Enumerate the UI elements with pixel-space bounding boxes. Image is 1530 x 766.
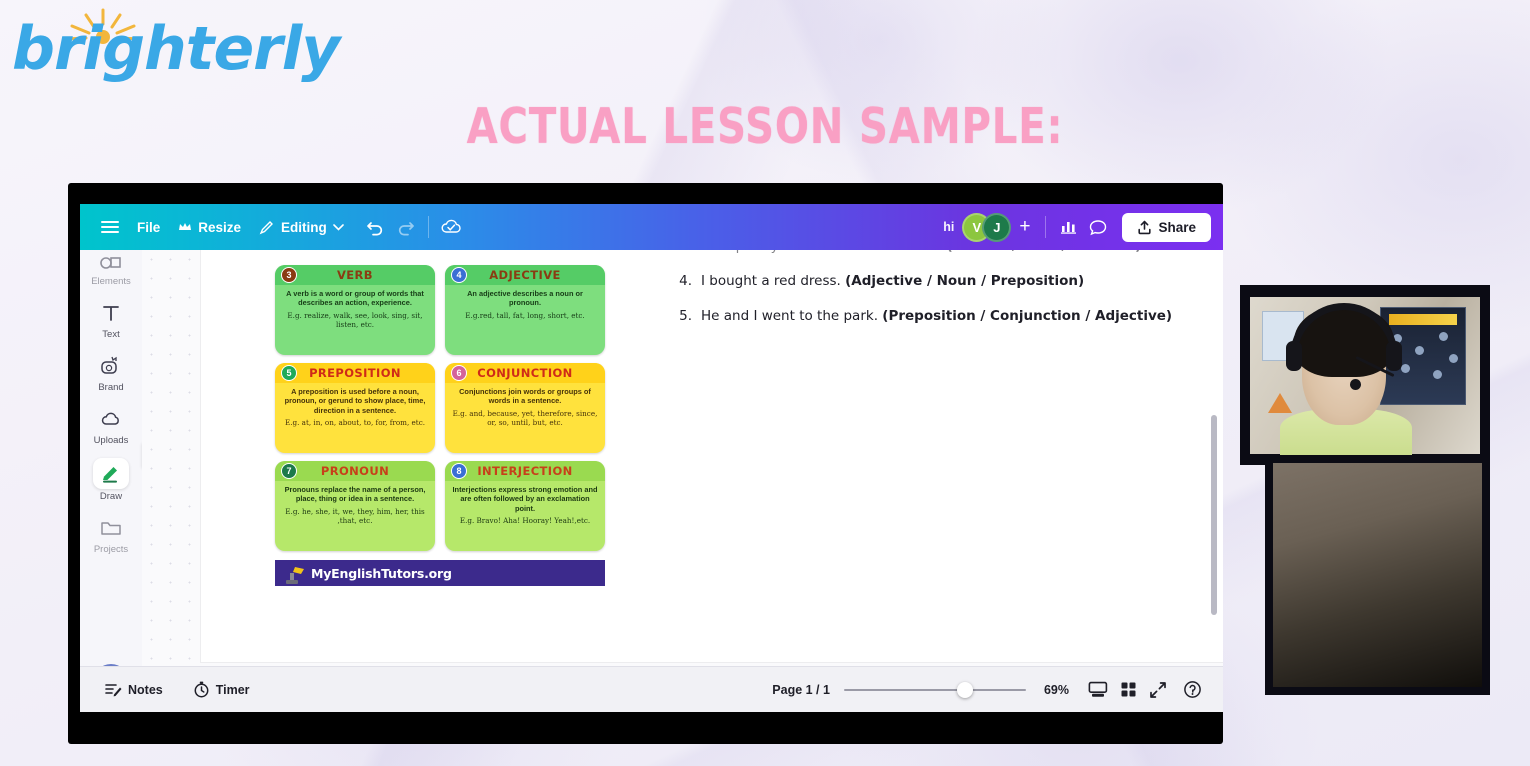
quiz-text-block[interactable]: 3. She quickly finished her homework. (A… xyxy=(679,250,1209,343)
card-preposition-body: A preposition is used before a noun, pro… xyxy=(275,383,435,433)
card-interjection-example: E.g. Bravo! Aha! Hooray! Yeah!,etc. xyxy=(451,516,599,525)
canva-application: File Resize Editing xyxy=(80,204,1223,712)
background-triangle-decor xyxy=(1268,393,1292,413)
fullscreen-button[interactable] xyxy=(1143,675,1173,705)
card-pronoun: 7 PRONOUN Pronouns replace the name of a… xyxy=(275,461,435,551)
quiz-number-4: 4. xyxy=(679,272,692,290)
card-adjective-title: ADJECTIVE xyxy=(489,268,561,282)
sidebar-label-text: Text xyxy=(102,329,119,340)
teacher-camera[interactable] xyxy=(1240,285,1490,465)
poster-footer: MyEnglishTutors.org xyxy=(275,560,605,586)
undo-button[interactable] xyxy=(361,212,391,242)
card-verb-title: VERB xyxy=(337,268,373,282)
page-indicator: Page 1 / 1 xyxy=(772,683,830,697)
toolbar-divider-2 xyxy=(1045,216,1046,238)
editing-label: Editing xyxy=(281,220,327,235)
add-people-button[interactable]: + xyxy=(1011,214,1038,240)
chevron-down-icon xyxy=(333,223,344,231)
zoom-slider[interactable] xyxy=(844,682,1026,698)
card-verb-number: 3 xyxy=(281,267,297,283)
card-interjection: 8 INTERJECTION Interjections express str… xyxy=(445,461,605,551)
headset-earcup-right xyxy=(1386,341,1402,371)
card-verb-definition: A verb is a word or group of words that … xyxy=(286,289,424,307)
folder-icon xyxy=(95,514,127,542)
timer-button[interactable]: Timer xyxy=(184,675,259,704)
notes-label: Notes xyxy=(128,683,163,697)
lamp-icon xyxy=(283,566,309,586)
upload-cloud-icon xyxy=(95,405,127,433)
sidebar-item-brand[interactable]: Brand xyxy=(82,346,140,397)
card-pronoun-number: 7 xyxy=(281,463,297,479)
quiz-line-3: 3. She quickly finished her homework. (A… xyxy=(679,250,1209,255)
notes-button[interactable]: Notes xyxy=(96,676,172,704)
save-status-button[interactable] xyxy=(436,212,466,242)
canva-bottom-bar: Notes Timer Page 1 / 1 69% xyxy=(80,666,1223,712)
canva-canvas[interactable]: 3. She quickly finished her homework. (A… xyxy=(142,250,1223,712)
card-preposition-head: 5 PREPOSITION xyxy=(275,363,435,383)
comments-button[interactable] xyxy=(1083,212,1113,242)
grammar-poster-image[interactable]: 3 VERB A verb is a word or group of word… xyxy=(263,250,616,607)
undo-icon xyxy=(366,218,385,236)
sidebar-label-elements: Elements xyxy=(91,276,131,287)
sidebar-item-elements[interactable]: Elements xyxy=(82,240,140,291)
brighterly-logo: brighterly xyxy=(8,6,278,96)
grid-view-button[interactable] xyxy=(1113,675,1143,705)
card-pronoun-head: 7 PRONOUN xyxy=(275,461,435,481)
card-interjection-definition: Interjections express strong emotion and… xyxy=(453,485,598,513)
canva-sidebar: Elements Text Brand U xyxy=(80,250,142,712)
main-menu-button[interactable] xyxy=(92,214,128,240)
timer-icon xyxy=(193,681,210,698)
card-adjective-example: E.g.red, tall, fat, long, short, etc. xyxy=(451,311,599,320)
comment-icon xyxy=(1089,219,1107,236)
bar-chart-icon xyxy=(1060,219,1077,235)
quiz-number-3: 3. xyxy=(679,250,692,255)
sidebar-item-uploads[interactable]: Uploads xyxy=(82,399,140,450)
avatar-j[interactable]: J xyxy=(982,213,1011,242)
resize-label: Resize xyxy=(198,220,241,235)
card-adjective-definition: An adjective describes a noun or pronoun… xyxy=(467,289,583,307)
sidebar-label-brand: Brand xyxy=(98,382,123,393)
card-conjunction-body: Conjunctions join words or groups of wor… xyxy=(445,383,605,433)
card-interjection-head: 8 INTERJECTION xyxy=(445,461,605,481)
card-conjunction-definition: Conjunctions join words or groups of wor… xyxy=(459,387,591,405)
text-icon xyxy=(95,299,127,327)
canvas-vertical-scrollbar[interactable] xyxy=(1211,415,1217,615)
help-icon xyxy=(1183,680,1202,699)
cloud-check-icon xyxy=(440,218,462,236)
quiz-body-4: I bought a red dress. (Adjective / Noun … xyxy=(701,272,1084,290)
card-preposition: 5 PREPOSITION A preposition is used befo… xyxy=(275,363,435,453)
card-verb-head: 3 VERB xyxy=(275,265,435,285)
file-menu-button[interactable]: File xyxy=(128,214,169,241)
card-adjective-body: An adjective describes a noun or pronoun… xyxy=(445,285,605,325)
resize-button[interactable]: Resize xyxy=(169,214,250,241)
card-adjective: 4 ADJECTIVE An adjective describes a nou… xyxy=(445,265,605,355)
quiz-line-4: 4. I bought a red dress. (Adjective / No… xyxy=(679,272,1209,290)
card-preposition-title: PREPOSITION xyxy=(309,366,401,380)
card-conjunction-example: E.g. and, because, yet, therefore, since… xyxy=(451,409,599,428)
presenter-view-button[interactable] xyxy=(1083,675,1113,705)
greeting-text: hi xyxy=(943,220,954,234)
sidebar-label-draw: Draw xyxy=(100,491,122,502)
sidebar-item-projects[interactable]: Projects xyxy=(82,508,140,559)
poster-dot xyxy=(1449,354,1458,363)
sidebar-label-uploads: Uploads xyxy=(94,435,129,446)
quiz-body-3: She quickly finished her homework. (Adve… xyxy=(701,250,1141,255)
poster-dot xyxy=(1415,346,1424,355)
canva-toolbar: File Resize Editing xyxy=(80,204,1223,250)
card-preposition-definition: A preposition is used before a noun, pro… xyxy=(285,387,426,415)
card-verb: 3 VERB A verb is a word or group of word… xyxy=(275,265,435,355)
quiz-number-5: 5. xyxy=(679,307,692,325)
screen-share-frame: File Resize Editing xyxy=(68,183,1223,744)
shapes-icon xyxy=(95,246,127,274)
grid-view-icon xyxy=(1120,681,1137,698)
editing-mode-button[interactable]: Editing xyxy=(250,213,353,241)
fullscreen-icon xyxy=(1149,681,1167,699)
card-preposition-example: E.g. at, in, on, about, to, for, from, e… xyxy=(281,418,429,427)
headset-earcup-left xyxy=(1286,341,1302,371)
zoom-percentage: 69% xyxy=(1044,683,1069,697)
card-conjunction-title: CONJUNCTION xyxy=(477,366,572,380)
page-title: ACTUAL LESSON SAMPLE: xyxy=(138,98,1393,155)
poster-dot xyxy=(1401,364,1410,373)
card-interjection-body: Interjections express strong emotion and… xyxy=(445,481,605,531)
student-camera[interactable] xyxy=(1265,455,1490,695)
sidebar-label-projects: Projects xyxy=(94,544,128,555)
card-conjunction-head: 6 CONJUNCTION xyxy=(445,363,605,383)
file-label: File xyxy=(137,220,160,235)
headset-mic-tip xyxy=(1350,379,1361,390)
notes-icon xyxy=(105,682,122,698)
card-interjection-title: INTERJECTION xyxy=(477,464,572,478)
card-pronoun-body: Pronouns replace the name of a person, p… xyxy=(275,481,435,531)
zoom-slider-knob[interactable] xyxy=(957,682,973,698)
student-video-feed xyxy=(1273,463,1482,687)
design-page[interactable]: 3. She quickly finished her homework. (A… xyxy=(201,250,1223,662)
toolbar-divider xyxy=(428,216,429,238)
quiz-body-5: He and I went to the park. (Preposition … xyxy=(701,307,1172,325)
brand-crown-icon xyxy=(95,352,127,380)
redo-icon xyxy=(396,218,415,236)
background-poster-title xyxy=(1389,314,1457,325)
logo-text: brighterly xyxy=(12,14,339,84)
card-conjunction-number: 6 xyxy=(451,365,467,381)
card-verb-example: E.g. realize, walk, see, look, sing, sit… xyxy=(281,311,429,330)
card-verb-body: A verb is a word or group of words that … xyxy=(275,285,435,335)
card-conjunction: 6 CONJUNCTION Conjunctions join words or… xyxy=(445,363,605,453)
sidebar-item-draw[interactable]: Draw xyxy=(82,452,140,506)
zoom-slider-track xyxy=(844,689,1026,691)
share-label: Share xyxy=(1158,220,1196,235)
card-adjective-head: 4 ADJECTIVE xyxy=(445,265,605,285)
poster-dot xyxy=(1433,370,1442,379)
card-interjection-number: 8 xyxy=(451,463,467,479)
insights-button[interactable] xyxy=(1053,212,1083,242)
draw-pen-icon xyxy=(93,458,129,489)
share-button[interactable]: Share xyxy=(1122,213,1211,242)
crown-icon xyxy=(178,221,192,233)
card-preposition-number: 5 xyxy=(281,365,297,381)
teacher-video-feed xyxy=(1250,297,1480,454)
presenter-view-icon xyxy=(1088,681,1108,698)
share-upload-icon xyxy=(1137,220,1152,235)
quiz-line-5: 5. He and I went to the park. (Prepositi… xyxy=(679,307,1209,325)
pencil-icon xyxy=(259,219,275,235)
hamburger-icon xyxy=(101,220,119,234)
help-button[interactable] xyxy=(1177,675,1207,705)
card-adjective-number: 4 xyxy=(451,267,467,283)
poster-dot xyxy=(1439,332,1448,341)
card-pronoun-example: E.g. he, she, it, we, they, him, her, th… xyxy=(281,507,429,526)
sidebar-item-text[interactable]: Text xyxy=(82,293,140,344)
card-pronoun-title: PRONOUN xyxy=(321,464,389,478)
card-pronoun-definition: Pronouns replace the name of a person, p… xyxy=(285,485,426,503)
redo-button[interactable] xyxy=(391,212,421,242)
timer-label: Timer xyxy=(216,683,250,697)
poster-footer-text: MyEnglishTutors.org xyxy=(311,566,452,581)
